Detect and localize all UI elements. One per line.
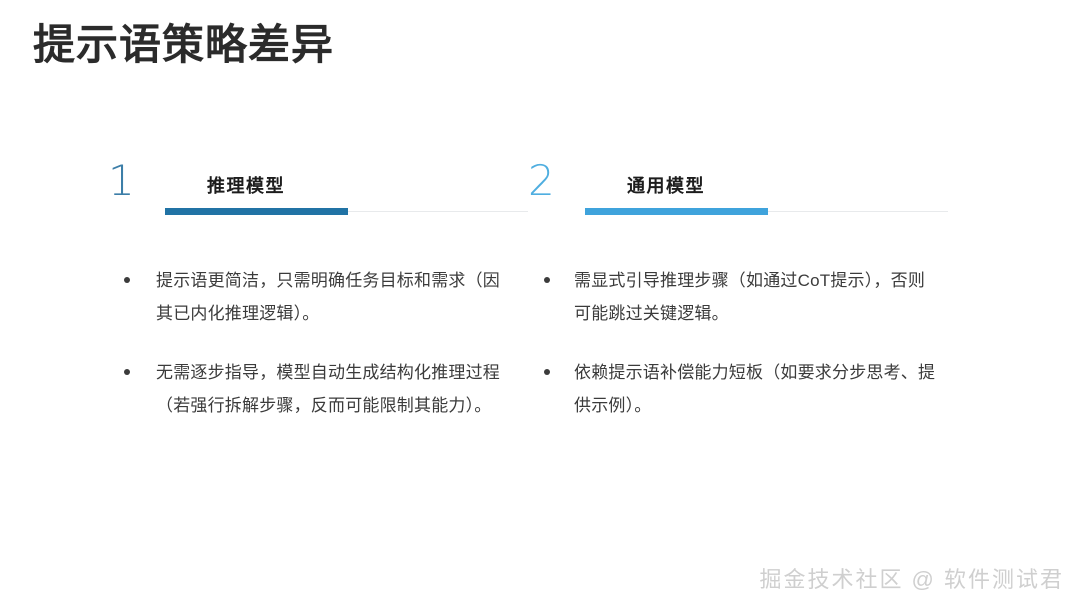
column-number: 1 bbox=[108, 160, 135, 202]
slide-canvas: 提示语策略差异 1 推理模型 提示语更简洁，只需明确任务目标和需求（因其已内化推… bbox=[0, 0, 1080, 608]
list-item: 依赖提示语补偿能力短板（如要求分步思考、提供示例）。 bbox=[536, 356, 936, 422]
list-item-text: 无需逐步指导，模型自动生成结构化推理过程（若强行拆解步骤，反而可能限制其能力）。 bbox=[156, 363, 500, 415]
list-item: 无需逐步指导，模型自动生成结构化推理过程（若强行拆解步骤，反而可能限制其能力）。 bbox=[116, 356, 516, 422]
list-item-text: 需显式引导推理步骤（如通过CoT提示），否则可能跳过关键逻辑。 bbox=[574, 271, 925, 323]
bullet-dot-icon bbox=[544, 277, 550, 283]
page-title: 提示语策略差异 bbox=[33, 21, 334, 69]
column-underline bbox=[585, 208, 948, 215]
watermark: 掘金技术社区 @ 软件测试君 bbox=[759, 562, 1064, 594]
column-heading: 推理模型 bbox=[207, 172, 285, 198]
column-underline bbox=[165, 208, 528, 215]
bullet-dot-icon bbox=[124, 277, 130, 283]
column-reasoning-model: 1 推理模型 提示语更简洁，只需明确任务目标和需求（因其已内化推理逻辑）。 无需… bbox=[108, 160, 528, 222]
column-heading: 通用模型 bbox=[627, 172, 705, 198]
bullet-dot-icon bbox=[544, 369, 550, 375]
column-header: 1 推理模型 bbox=[108, 160, 528, 222]
list-item: 需显式引导推理步骤（如通过CoT提示），否则可能跳过关键逻辑。 bbox=[536, 264, 936, 330]
list-item: 提示语更简洁，只需明确任务目标和需求（因其已内化推理逻辑）。 bbox=[116, 264, 516, 330]
list-item-text: 提示语更简洁，只需明确任务目标和需求（因其已内化推理逻辑）。 bbox=[156, 271, 500, 323]
column-number: 2 bbox=[528, 160, 555, 202]
bullet-dot-icon bbox=[124, 369, 130, 375]
underline-accent-bar bbox=[585, 208, 768, 215]
column-header: 2 通用模型 bbox=[528, 160, 948, 222]
bullet-list: 提示语更简洁，只需明确任务目标和需求（因其已内化推理逻辑）。 无需逐步指导，模型… bbox=[116, 264, 516, 422]
bullet-list: 需显式引导推理步骤（如通过CoT提示），否则可能跳过关键逻辑。 依赖提示语补偿能… bbox=[536, 264, 936, 422]
column-general-model: 2 通用模型 需显式引导推理步骤（如通过CoT提示），否则可能跳过关键逻辑。 依… bbox=[528, 160, 948, 222]
underline-accent-bar bbox=[165, 208, 348, 215]
list-item-text: 依赖提示语补偿能力短板（如要求分步思考、提供示例）。 bbox=[574, 363, 935, 415]
